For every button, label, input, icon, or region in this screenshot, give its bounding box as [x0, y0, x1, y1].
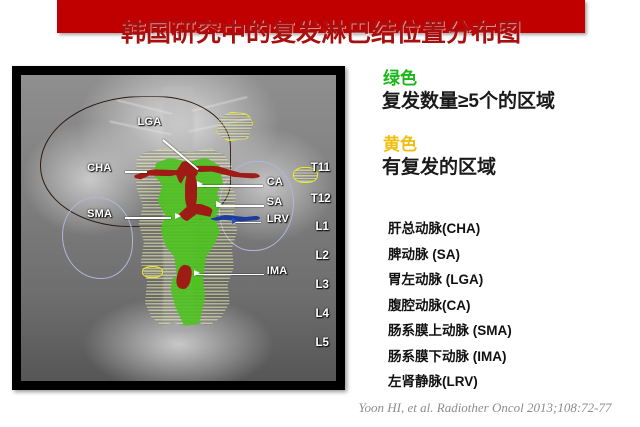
callout-label-ima: IMA: [267, 265, 288, 277]
page-title: 韩国研究中的复发淋巴结位置分布图: [57, 18, 585, 48]
arrow-head-ca: [197, 181, 203, 187]
arrow-head-lrv: [232, 218, 238, 224]
legend-description-yellow: 有复发的区域: [382, 156, 633, 180]
arrow-head-sa: [216, 201, 222, 207]
leader-line-ca: [197, 185, 263, 187]
celiac-axis-vessel: [185, 173, 198, 210]
arrow-head-ima: [194, 270, 200, 276]
citation-reference: Yoon HI, et al. Radiother Oncol 2013;108…: [340, 400, 630, 416]
abdominal-xray-image: LGA CHA SMA CA SA LRV IMA T11 T12 L1 L2 …: [21, 75, 336, 381]
list-item: 腹腔动脉(CA): [388, 293, 638, 319]
callout-label-lga: LGA: [138, 116, 162, 128]
yellow-node-upper: [216, 112, 253, 142]
legend-key-yellow: 黄色: [383, 134, 633, 156]
list-item: 肝总动脉(CHA): [388, 216, 638, 242]
yellow-node-lower-left: [142, 266, 163, 278]
vertebral-label-l4: L4: [316, 308, 329, 320]
xray-panel: LGA CHA SMA CA SA LRV IMA T11 T12 L1 L2 …: [12, 66, 345, 390]
list-item: 胃左动脉 (LGA): [388, 267, 638, 293]
list-item: 脾动脉 (SA): [388, 242, 638, 268]
legend-block-yellow: 黄色 有复发的区域: [383, 134, 633, 180]
artery-list: 肝总动脉(CHA) 脾动脉 (SA) 胃左动脉 (LGA) 腹腔动脉(CA) 肠…: [388, 216, 638, 395]
list-item: 肠系膜上动脉 (SMA): [388, 318, 638, 344]
vertebral-label-l1: L1: [316, 221, 329, 233]
vertebral-label-l2: L2: [316, 250, 329, 262]
list-item: 左肾静脉(LRV): [388, 369, 638, 395]
legend-panel: 绿色 复发数量≥5个的区域 黄色 有复发的区域: [383, 68, 633, 180]
vertebral-label-t12: T12: [311, 193, 331, 205]
callout-label-cha: CHA: [87, 162, 111, 174]
leader-line-sa: [216, 205, 264, 207]
legend-key-green: 绿色: [383, 68, 633, 90]
leader-line-sma: [125, 217, 171, 219]
callout-label-ca: CA: [267, 176, 283, 188]
callout-label-lrv: LRV: [267, 213, 289, 225]
leader-line-lrv: [235, 222, 261, 224]
leader-line-cha: [125, 171, 147, 173]
callout-label-sma: SMA: [87, 208, 112, 220]
leader-line-ima: [194, 274, 264, 276]
legend-description-green: 复发数量≥5个的区域: [382, 90, 633, 114]
vertebral-label-l5: L5: [316, 337, 329, 349]
vertebral-label-t11: T11: [311, 162, 330, 174]
list-item: 肠系膜下动脉 (IMA): [388, 344, 638, 370]
arrow-head-sma: [175, 213, 181, 219]
callout-label-sa: SA: [267, 196, 283, 208]
vertebral-label-l3: L3: [316, 279, 329, 291]
legend-block-green: 绿色 复发数量≥5个的区域: [383, 68, 633, 114]
